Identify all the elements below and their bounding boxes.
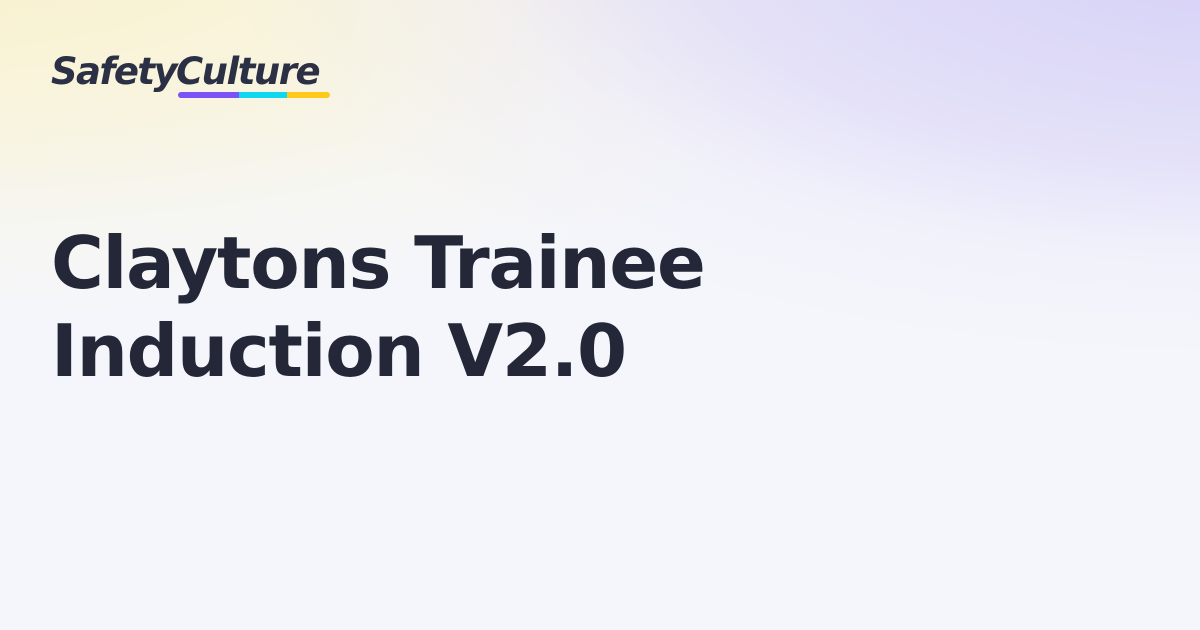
safetyculture-logo: SafetyCulture: [51, 52, 319, 92]
logo-wordmark: SafetyCulture: [51, 52, 319, 92]
logo-word-safety: Safety: [51, 50, 176, 93]
page-title: Claytons Trainee Induction V2.0: [51, 219, 1061, 395]
share-card-canvas: SafetyCulture Claytons Trainee Induction…: [0, 0, 1200, 630]
logo-word-culture: Culture: [176, 50, 319, 93]
logo-underline-segment-yellow: [287, 92, 330, 98]
logo-underline-bar: [178, 92, 330, 98]
logo-underline-segment-purple: [178, 92, 239, 98]
logo-underline-segment-cyan: [239, 92, 288, 98]
